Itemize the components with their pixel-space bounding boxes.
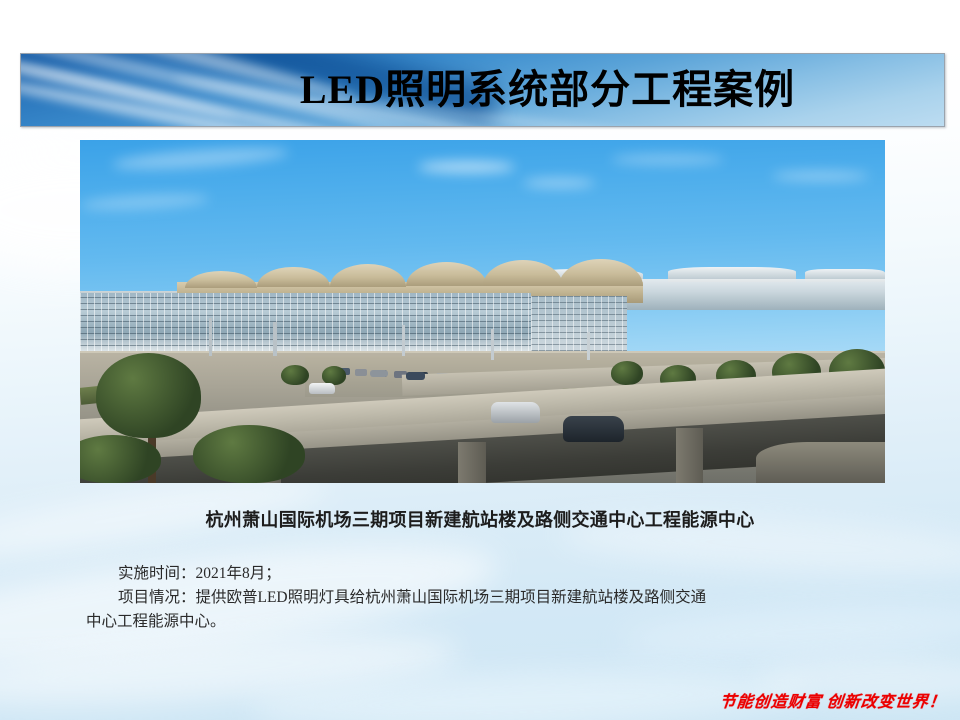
photo-car <box>355 369 367 376</box>
photo-light-pole-icon <box>491 329 494 360</box>
photo-light-pole-icon <box>209 318 213 356</box>
project-photo <box>80 140 885 483</box>
photo-car <box>491 402 541 423</box>
detail-line-implementation-time: 实施时间：2021年8月； <box>86 562 876 586</box>
photo-terminal-facade <box>531 296 628 351</box>
photo-tree-icon <box>193 425 306 483</box>
project-details: 实施时间：2021年8月； 项目情况：提供欧普LED照明灯具给杭州萧山国际机场三… <box>86 562 876 634</box>
photo-car <box>563 416 624 442</box>
photo-terminal-facade <box>80 293 531 358</box>
photo-light-pole-icon <box>587 332 590 359</box>
photo-cloud-icon <box>772 171 869 181</box>
slide-canvas: LED照明系统部分工程案例 <box>0 0 960 720</box>
photo-cloud-icon <box>418 161 515 173</box>
photo-tree-icon <box>96 353 201 439</box>
photo-viaduct-pier <box>676 428 703 483</box>
photo-caption: 杭州萧山国际机场三期项目新建航站楼及路侧交通中心工程能源中心 <box>0 506 960 532</box>
detail-line-project-overview-cont: 中心工程能源中心。 <box>86 610 876 634</box>
photo-tree-icon <box>611 361 643 385</box>
photo-viaduct-pier <box>458 442 485 483</box>
photo-cloud-icon <box>523 178 595 188</box>
photo-tree-icon <box>281 365 308 386</box>
photo-car <box>370 370 388 378</box>
title-banner: LED照明系统部分工程案例 <box>20 53 945 127</box>
footer-slogan: 节能创造财富 创新改变世界！ <box>719 688 948 712</box>
slide-title: LED照明系统部分工程案例 <box>21 54 944 126</box>
photo-car <box>406 372 425 380</box>
detail-line-project-overview: 项目情况：提供欧普LED照明灯具给杭州萧山国际机场三期项目新建航站楼及路侧交通 <box>86 586 876 610</box>
photo-light-pole-icon <box>402 325 405 356</box>
photo-roundabout-wall <box>756 442 885 483</box>
photo-car <box>309 383 335 394</box>
photo-cloud-icon <box>611 154 724 165</box>
photo-tree-icon <box>80 435 161 483</box>
photo-light-pole-icon <box>273 322 277 356</box>
